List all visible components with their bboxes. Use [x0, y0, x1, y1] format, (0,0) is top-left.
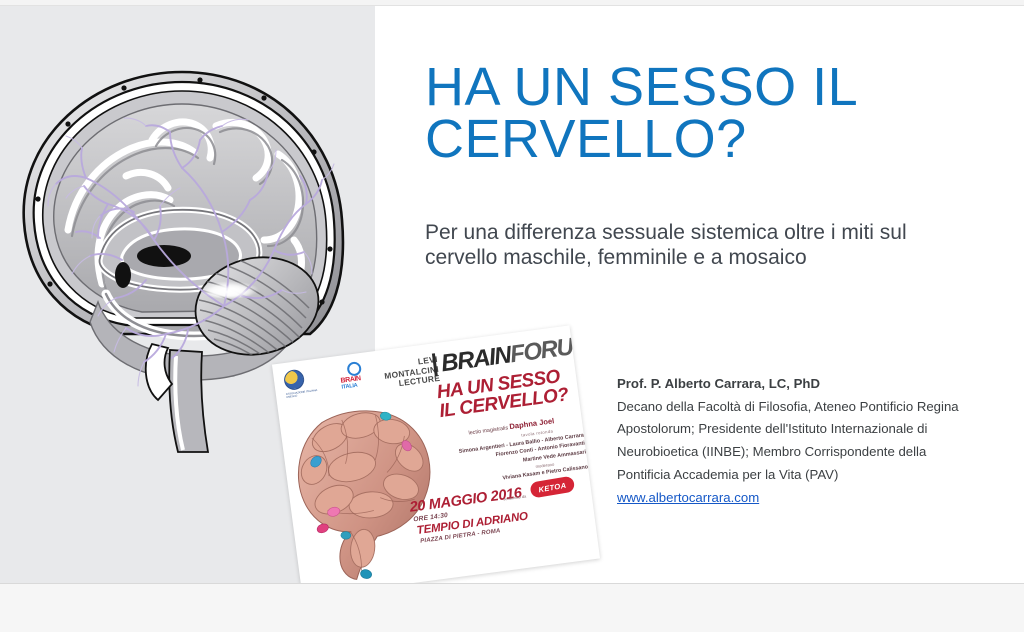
poster-brand-dots: ...: [589, 329, 600, 358]
poster-brand-forum: FORUM: [508, 331, 592, 368]
poster-sponsor-logo: KETOA: [529, 476, 575, 499]
poster-keynote-label: lectio magistralis: [468, 425, 508, 436]
page-title: HA UN SESSO IL CERVELLO?: [425, 62, 985, 166]
presentation-slide: HA UN SESSO IL CERVELLO? Per una differe…: [0, 6, 1024, 583]
slide-title-block: HA UN SESSO IL CERVELLO?: [425, 62, 985, 166]
speaker-info-block: Prof. P. Alberto Carrara, LC, PhD Decano…: [617, 373, 1007, 509]
viewer-bottom-area: [0, 583, 1024, 632]
speaker-affiliation-line-1: Decano della Facoltà di Filosofia, Atene…: [617, 396, 1007, 419]
slide-subtitle: Per una differenza sessuale sistemica ol…: [425, 220, 955, 270]
poster-brand-brain: BRAIN: [440, 342, 512, 378]
speaker-affiliation-line-4: Pontificia Accademia per la Vita (PAV): [617, 464, 1007, 487]
slide-viewer: HA UN SESSO IL CERVELLO? Per una differe…: [0, 0, 1024, 632]
speaker-affiliation-line-3: Neurobioetica (IINBE); Membro Corrispond…: [617, 441, 1007, 464]
speaker-name: Prof. P. Alberto Carrara, LC, PhD: [617, 373, 1007, 396]
speaker-affiliation-line-2: Apostolorum; Presidente dell'Istituto In…: [617, 418, 1007, 441]
speaker-website-link[interactable]: www.albertocarrara.com: [617, 487, 759, 510]
event-poster-image: ASSOCIAZIONE ITALIANA UNESCO BRAIN ITALI…: [272, 325, 600, 583]
